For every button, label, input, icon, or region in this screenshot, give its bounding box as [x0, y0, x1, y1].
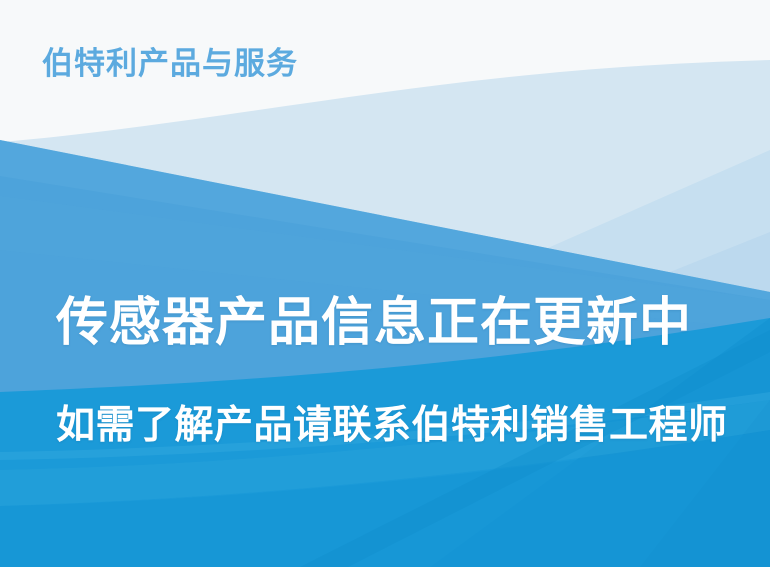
- banner-headline: 传感器产品信息正在更新中: [56, 295, 692, 352]
- product-placeholder-banner: 伯特利产品与服务 传感器产品信息正在更新中 如需了解产品请联系伯特利销售工程师: [0, 0, 770, 567]
- banner-text-layer: 伯特利产品与服务 传感器产品信息正在更新中 如需了解产品请联系伯特利销售工程师: [0, 0, 770, 567]
- banner-subheadline: 如需了解产品请联系伯特利销售工程师: [56, 405, 728, 448]
- banner-eyebrow-label: 伯特利产品与服务: [42, 45, 298, 84]
